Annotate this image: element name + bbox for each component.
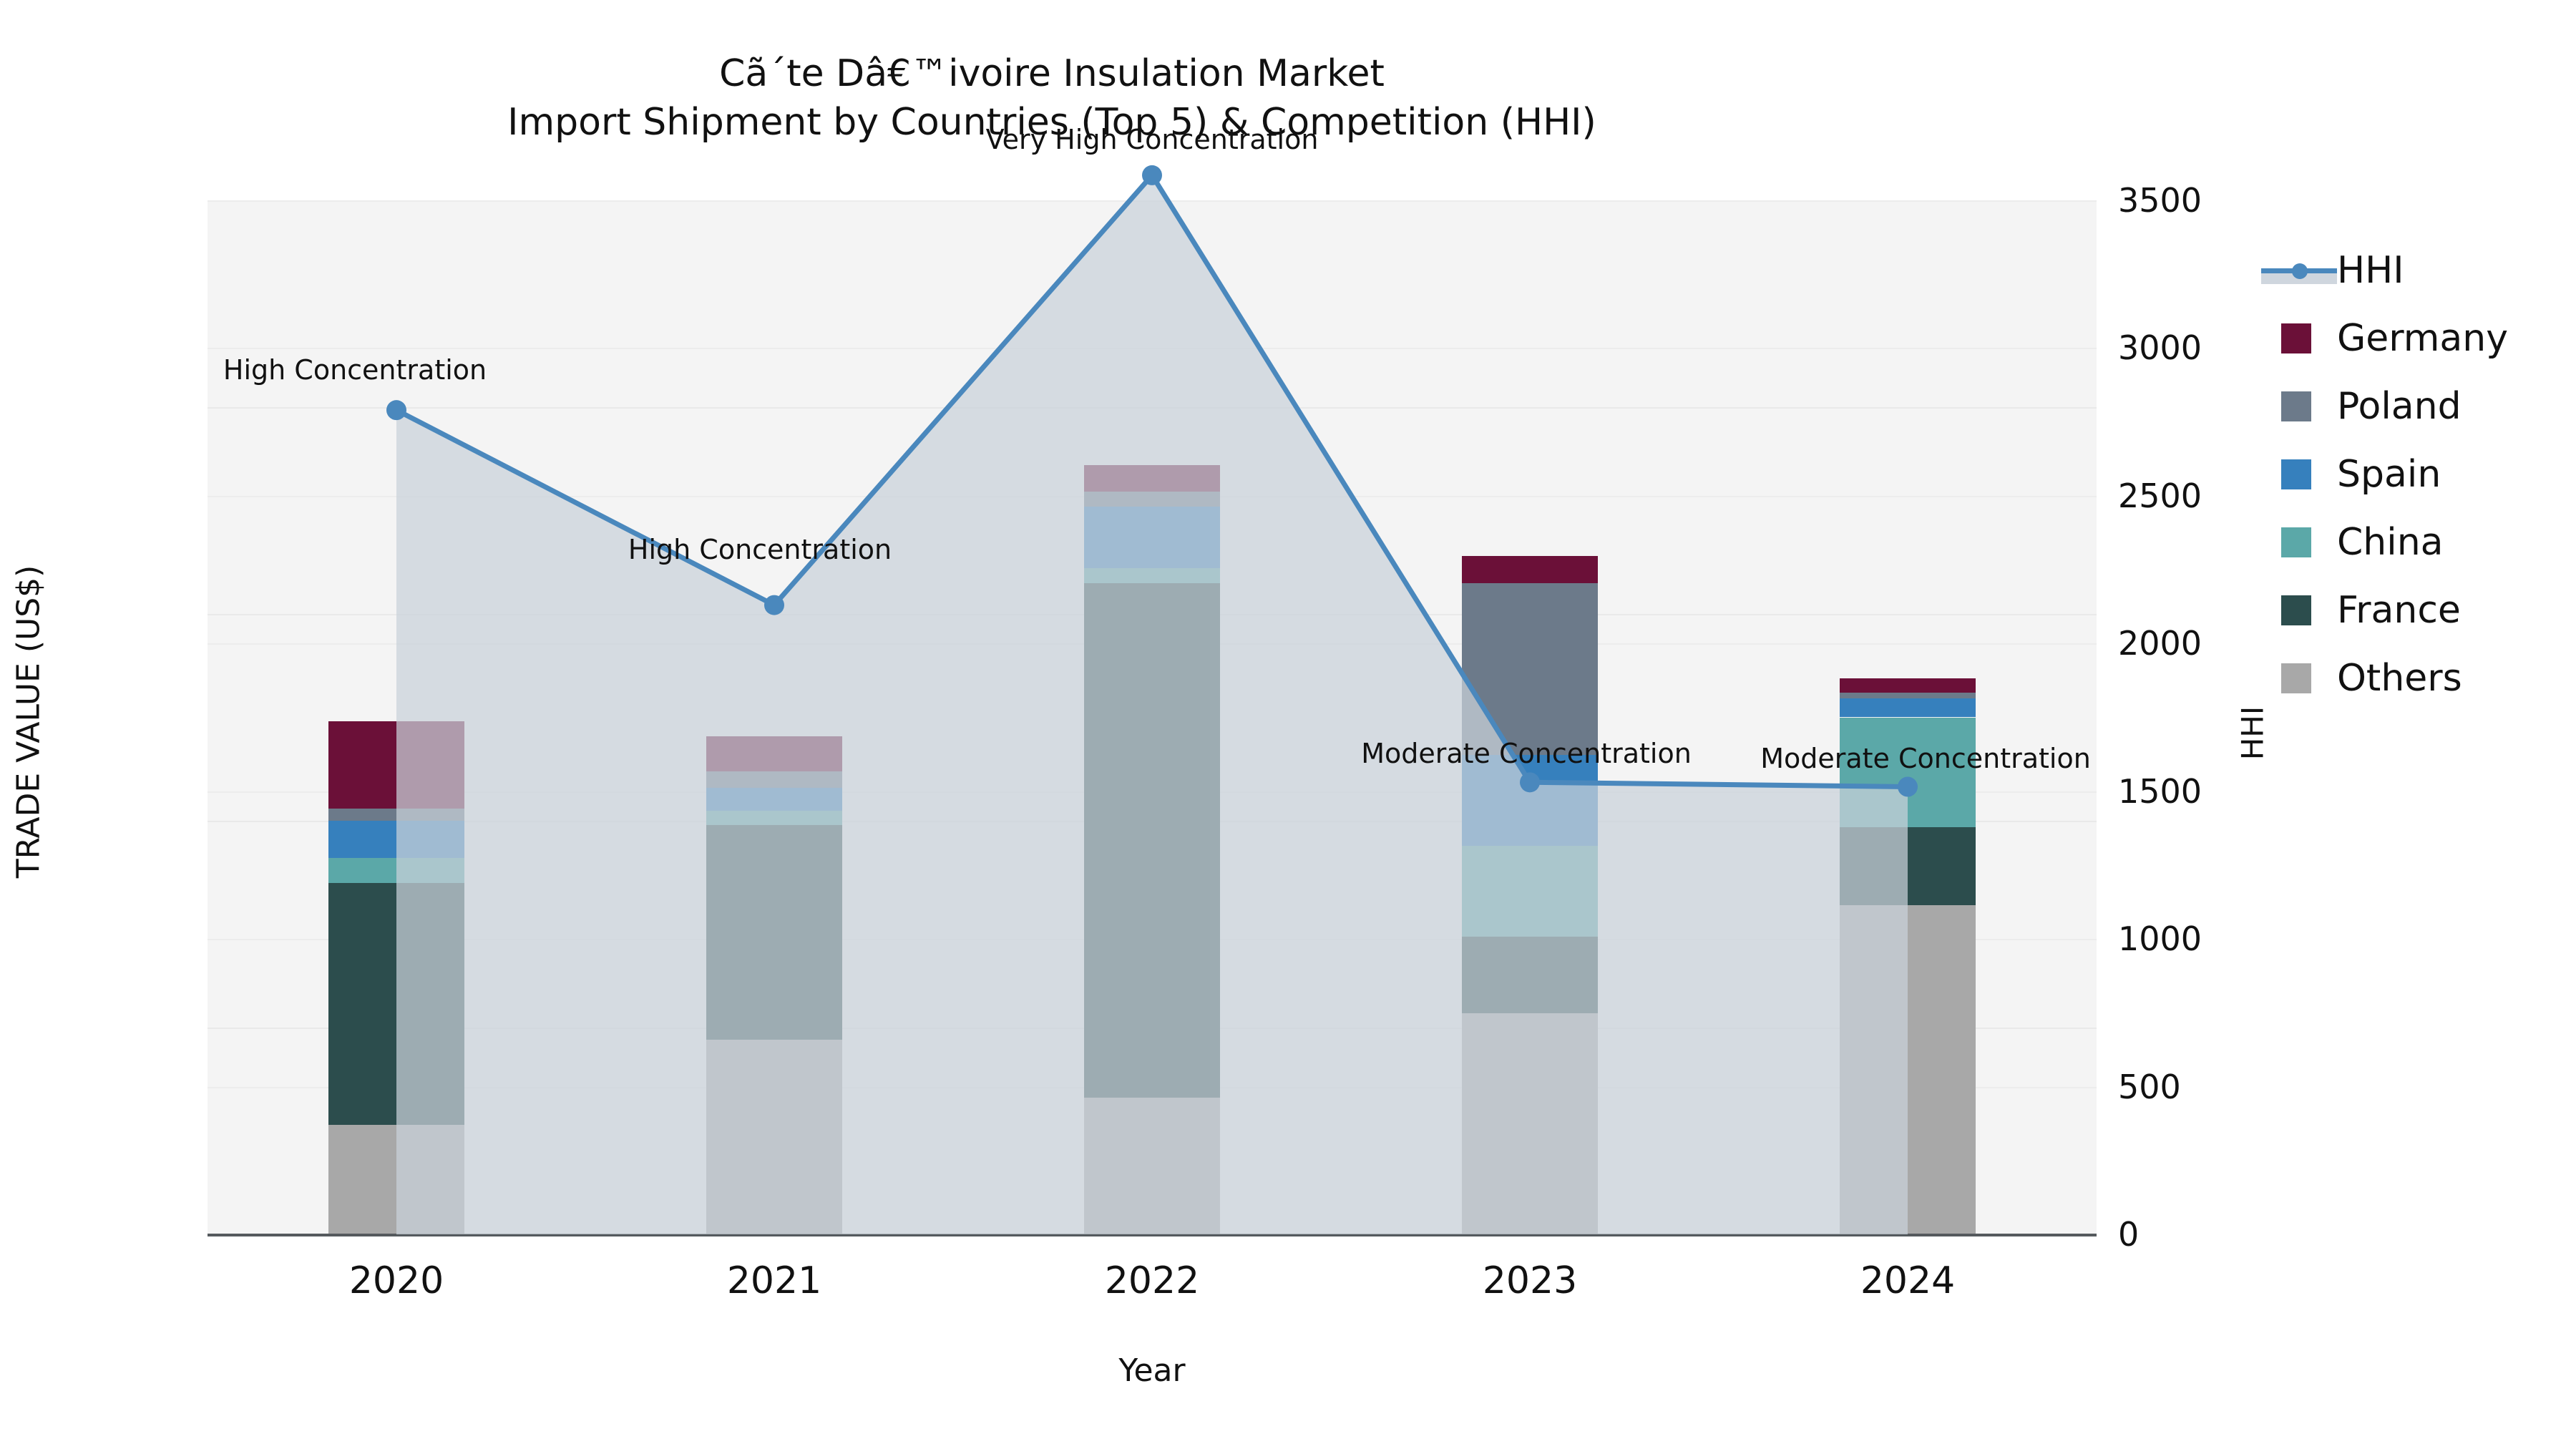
bar-segment-others-2021 bbox=[706, 1040, 842, 1234]
x-tick-2021: 2021 bbox=[727, 1259, 821, 1302]
bar-segment-germany-2023 bbox=[1462, 556, 1598, 583]
bar-segment-others-2020 bbox=[328, 1125, 464, 1234]
bar-segment-poland-2021 bbox=[706, 771, 842, 788]
bar-segment-poland-2020 bbox=[328, 809, 464, 821]
legend-item-hhi[interactable]: HHI bbox=[2261, 236, 2508, 304]
legend-label-china: China bbox=[2337, 521, 2444, 564]
bar-segment-france-2024 bbox=[1840, 827, 1976, 906]
legend-swatch-poland bbox=[2281, 391, 2311, 421]
bar-segment-france-2023 bbox=[1462, 937, 1598, 1013]
bar-segment-germany-2020 bbox=[328, 721, 464, 808]
y-axis-label-left: TRADE VALUE (US$) bbox=[11, 292, 47, 1151]
y-tick-right: 2000 bbox=[2118, 624, 2202, 663]
bar-segment-china-2023 bbox=[1462, 846, 1598, 937]
legend: HHIGermanyPolandSpainChinaFranceOthers bbox=[2261, 236, 2508, 712]
y-tick-right: 500 bbox=[2118, 1068, 2181, 1106]
x-axis-label: Year bbox=[208, 1352, 2097, 1389]
legend-label-poland: Poland bbox=[2337, 385, 2462, 428]
bar-segment-france-2020 bbox=[328, 883, 464, 1125]
hhi-annotation-2024: Moderate Concentration bbox=[1760, 743, 2091, 774]
x-tick-2020: 2020 bbox=[349, 1259, 444, 1302]
y-tick-right: 1000 bbox=[2118, 919, 2202, 958]
legend-line-icon bbox=[2261, 255, 2337, 286]
legend-swatch-germany bbox=[2281, 323, 2311, 353]
legend-item-germany[interactable]: Germany bbox=[2261, 304, 2508, 372]
bar-segment-spain-2020 bbox=[328, 821, 464, 858]
y-axis-label-right: HHI bbox=[2235, 706, 2270, 761]
y-tick-right: 2500 bbox=[2118, 477, 2202, 515]
x-axis-line bbox=[208, 1234, 2097, 1236]
legend-swatch-spain bbox=[2281, 459, 2311, 489]
bar-segment-poland-2024 bbox=[1840, 693, 1976, 699]
legend-swatch-china bbox=[2281, 527, 2311, 557]
y-tick-right: 3500 bbox=[2118, 181, 2202, 220]
legend-label-hhi: HHI bbox=[2337, 249, 2404, 292]
hhi-annotation-2020: High Concentration bbox=[223, 354, 487, 386]
legend-label-spain: Spain bbox=[2337, 453, 2441, 496]
bar-segment-others-2023 bbox=[1462, 1013, 1598, 1234]
legend-item-poland[interactable]: Poland bbox=[2261, 372, 2508, 440]
legend-item-china[interactable]: China bbox=[2261, 508, 2508, 576]
gridline-right bbox=[208, 200, 2097, 202]
bar-segment-germany-2024 bbox=[1840, 678, 1976, 693]
legend-item-spain[interactable]: Spain bbox=[2261, 440, 2508, 508]
bar-segment-france-2022 bbox=[1084, 583, 1220, 1098]
hhi-annotation-2023: Moderate Concentration bbox=[1361, 738, 1692, 769]
legend-item-france[interactable]: France bbox=[2261, 576, 2508, 644]
x-tick-2023: 2023 bbox=[1483, 1259, 1577, 1302]
hhi-marker-2022 bbox=[1142, 165, 1162, 185]
legend-swatch-france bbox=[2281, 595, 2311, 625]
legend-label-germany: Germany bbox=[2337, 317, 2508, 360]
bar-segment-spain-2024 bbox=[1840, 698, 1976, 717]
y-tick-right: 3000 bbox=[2118, 328, 2202, 367]
x-tick-2024: 2024 bbox=[1860, 1259, 1955, 1302]
bar-segment-france-2021 bbox=[706, 825, 842, 1040]
legend-item-others[interactable]: Others bbox=[2261, 644, 2508, 712]
bar-segment-poland-2023 bbox=[1462, 583, 1598, 755]
plot-area bbox=[208, 200, 2097, 1234]
bar-segment-others-2024 bbox=[1840, 905, 1976, 1234]
y-tick-right: 1500 bbox=[2118, 772, 2202, 811]
bar-segment-others-2022 bbox=[1084, 1098, 1220, 1234]
bar-segment-germany-2021 bbox=[706, 736, 842, 771]
bar-segment-germany-2022 bbox=[1084, 465, 1220, 492]
gridline-right bbox=[208, 348, 2097, 349]
legend-label-france: France bbox=[2337, 589, 2461, 632]
legend-swatch-others bbox=[2281, 663, 2311, 693]
hhi-annotation-2021: High Concentration bbox=[628, 534, 892, 565]
bar-segment-china-2021 bbox=[706, 811, 842, 825]
bar-segment-china-2022 bbox=[1084, 568, 1220, 582]
bar-segment-spain-2021 bbox=[706, 788, 842, 811]
y-tick-right: 0 bbox=[2118, 1215, 2139, 1254]
gridline-left bbox=[208, 407, 2097, 409]
bar-segment-china-2020 bbox=[328, 858, 464, 883]
hhi-annotation-2022: Very High Concentration bbox=[986, 124, 1319, 155]
x-tick-2022: 2022 bbox=[1105, 1259, 1199, 1302]
legend-label-others: Others bbox=[2337, 657, 2462, 700]
bar-segment-poland-2022 bbox=[1084, 492, 1220, 506]
bar-segment-spain-2022 bbox=[1084, 507, 1220, 569]
